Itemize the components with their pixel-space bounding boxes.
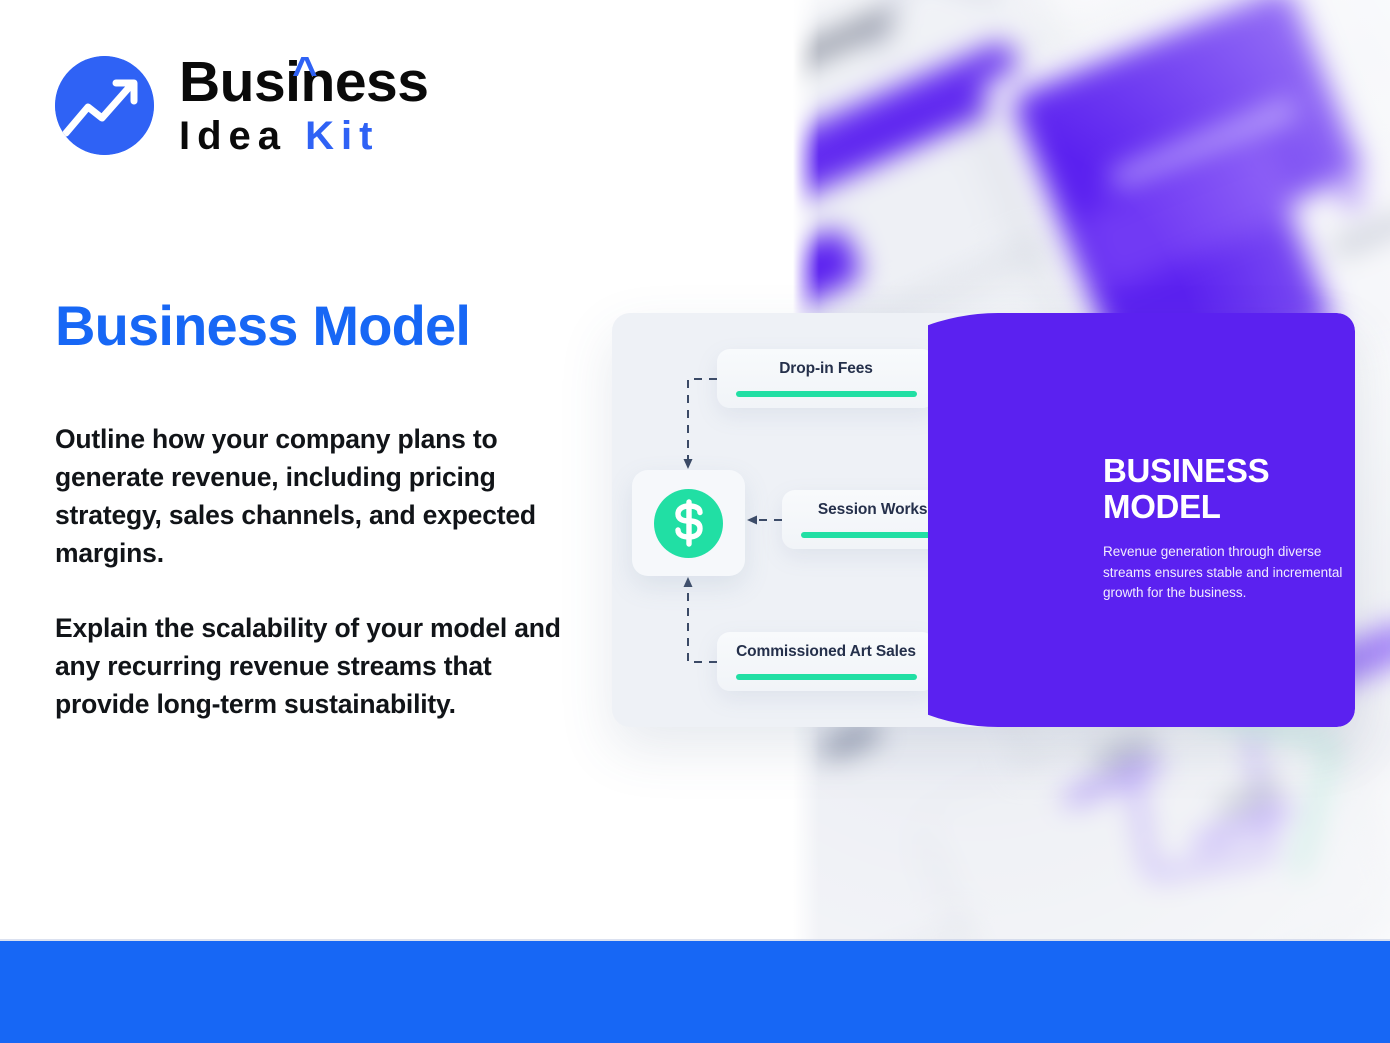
page-title: Business Model [55, 297, 470, 356]
purple-panel-content: BUSINESS MODEL Revenue generation throug… [1103, 453, 1353, 604]
purple-panel-body: Revenue generation through diverse strea… [1103, 542, 1348, 604]
purple-panel-title: BUSINESS MODEL [1103, 453, 1353, 524]
brand-name-line2-accent: Kit [305, 114, 379, 158]
dollar-sign-icon [654, 489, 723, 558]
brand-name-line2-main: Idea [179, 114, 305, 158]
circumflex-accent-icon: ^ [292, 51, 317, 95]
brand-logo: Business ^ Idea Kit [55, 54, 428, 156]
revenue-stream-card[interactable]: Drop-in Fees [717, 349, 935, 408]
revenue-stream-card[interactable]: Commissioned Art Sales [717, 632, 935, 691]
card-inner: Drop-in Fees Session Workshops Commissio… [612, 313, 1355, 727]
brand-wordmark: Business ^ Idea Kit [179, 54, 428, 156]
brand-name-line1: Business ^ [179, 54, 428, 111]
revenue-center-node [632, 470, 745, 576]
trend-arrow-circle-icon [55, 56, 154, 155]
business-model-card: Drop-in Fees Session Workshops Commissio… [612, 313, 1355, 727]
slide-root: Business ^ Idea Kit Business Model Outli… [0, 0, 1390, 1043]
revenue-stream-label: Commissioned Art Sales [736, 643, 916, 661]
revenue-stream-bar [736, 391, 917, 397]
brand-name-line2: Idea Kit [179, 116, 428, 156]
body-paragraph-1: Outline how your company plans to genera… [55, 420, 585, 573]
purple-highlight-panel: BUSINESS MODEL Revenue generation throug… [928, 313, 1355, 727]
revenue-stream-bar [736, 674, 917, 680]
footer-bar [0, 941, 1390, 1043]
body-paragraph-2: Explain the scalability of your model an… [55, 609, 585, 723]
revenue-stream-label: Drop-in Fees [779, 360, 873, 378]
